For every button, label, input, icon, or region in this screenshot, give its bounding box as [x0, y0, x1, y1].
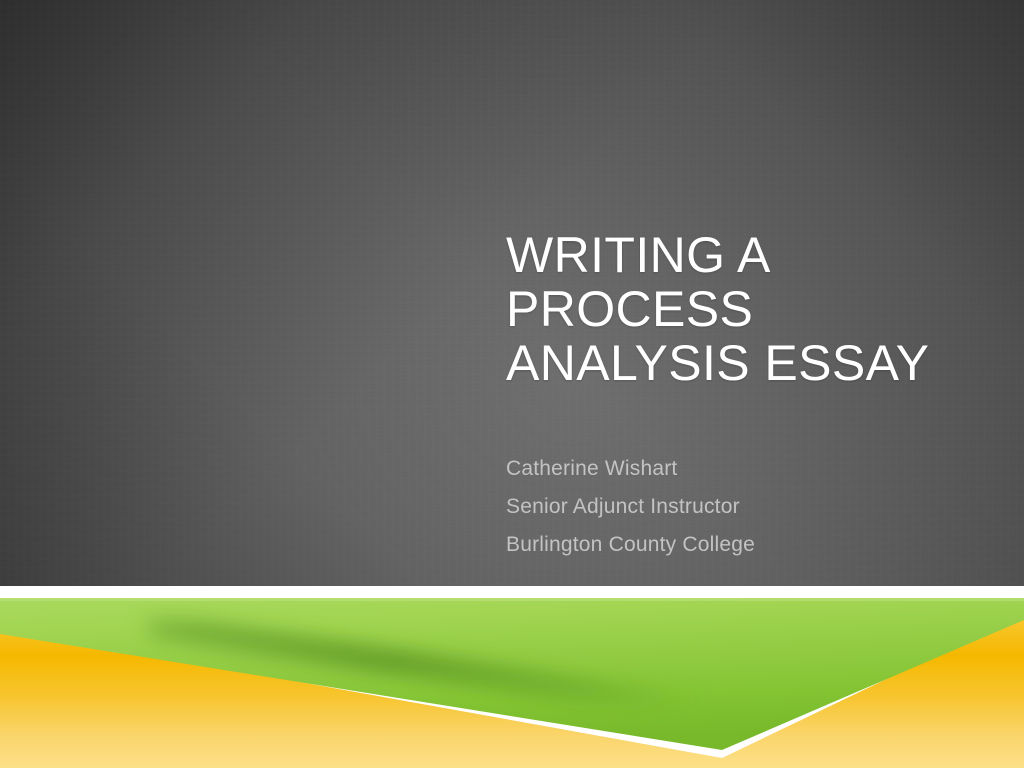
- presentation-slide: WRITING A PROCESS ANALYSIS ESSAY Catheri…: [0, 0, 1024, 768]
- white-divider-band: [0, 586, 1024, 598]
- slide-title: WRITING A PROCESS ANALYSIS ESSAY: [506, 228, 986, 390]
- decoration-graphic: [0, 586, 1024, 768]
- subtitle-line-organization: Burlington County College: [506, 526, 986, 564]
- bottom-decoration: [0, 586, 1024, 768]
- subtitle-line-role: Senior Adjunct Instructor: [506, 488, 986, 526]
- subtitle-line-author: Catherine Wishart: [506, 450, 986, 488]
- subtitle-block: Catherine Wishart Senior Adjunct Instruc…: [506, 450, 986, 564]
- green-top-highlight: [0, 598, 1024, 601]
- title-block: WRITING A PROCESS ANALYSIS ESSAY: [506, 228, 986, 390]
